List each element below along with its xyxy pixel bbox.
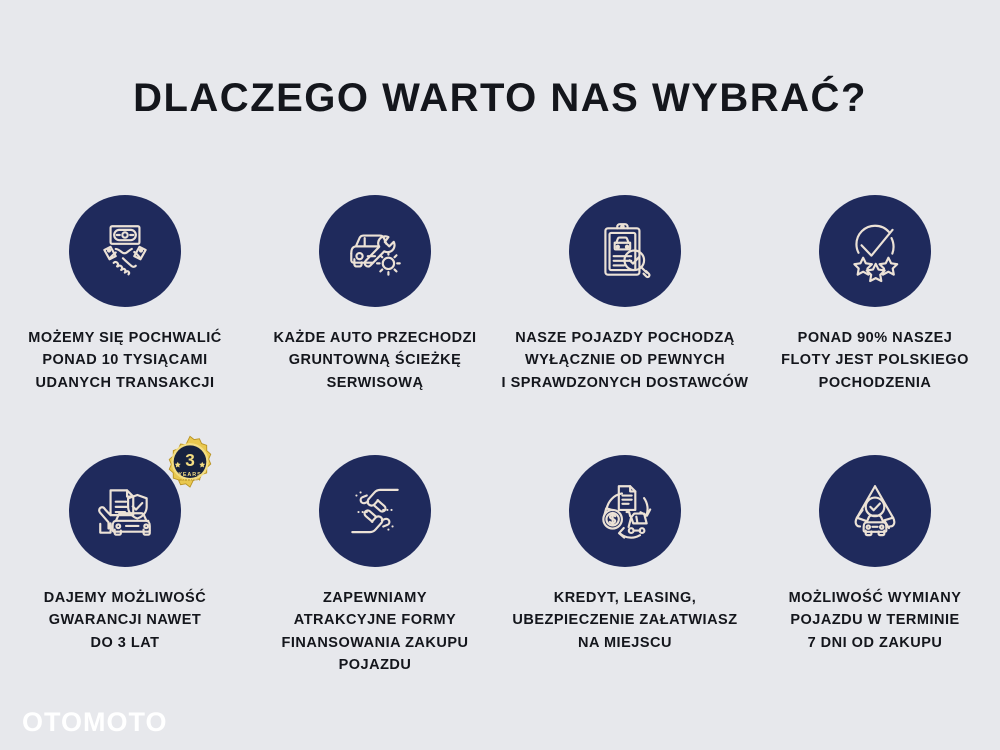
feature-caption-5: DAJEMY MOŻLIWOŚĆ GWARANCJI NAWET DO 3 LA… bbox=[0, 587, 250, 654]
car-exchange-recycle-icon bbox=[819, 455, 931, 567]
feature-card-7: KREDYT, LEASING, UBEZPIECZENIE ZAŁATWIAS… bbox=[500, 455, 750, 677]
feature-caption-3: NASZE POJAZDY POCHODZĄ WYŁĄCZNIE OD PEWN… bbox=[489, 327, 761, 394]
three-years-warranty-badge: 3 YEARS WARRANTY bbox=[161, 435, 219, 493]
svg-text:3: 3 bbox=[185, 450, 195, 470]
feature-card-4: PONAD 90% NASZEJ FLOTY JEST POLSKIEGO PO… bbox=[750, 195, 1000, 394]
feature-card-3: NASZE POJAZDY POCHODZĄ WYŁĄCZNIE OD PEWN… bbox=[500, 195, 750, 394]
icon-wrap-5: 3 YEARS WARRANTY bbox=[69, 455, 181, 567]
svg-text:WARRANTY: WARRANTY bbox=[179, 478, 201, 482]
icon-wrap-2 bbox=[319, 195, 431, 307]
icon-wrap-7 bbox=[569, 455, 681, 567]
car-wrench-gear-icon bbox=[319, 195, 431, 307]
icon-wrap-3 bbox=[569, 195, 681, 307]
features-row-1: MOŻEMY SIĘ POCHWALIĆ PONAD 10 TYSIĄCAMI … bbox=[0, 195, 1000, 394]
feature-card-5: 3 YEARS WARRANTY DAJEMY MOŻLIWOŚĆ GWARAN… bbox=[0, 455, 250, 677]
finance-cycle-icon bbox=[569, 455, 681, 567]
check-stars-icon bbox=[819, 195, 931, 307]
features-row-2: 3 YEARS WARRANTY DAJEMY MOŻLIWOŚĆ GWARAN… bbox=[0, 455, 1000, 677]
feature-caption-6: ZAPEWNIAMY ATRAKCYJNE FORMY FINANSOWANIA… bbox=[250, 587, 500, 677]
feature-card-1: MOŻEMY SIĘ POCHWALIĆ PONAD 10 TYSIĄCAMI … bbox=[0, 195, 250, 394]
icon-wrap-6 bbox=[319, 455, 431, 567]
icon-wrap-8 bbox=[819, 455, 931, 567]
feature-card-6: ZAPEWNIAMY ATRAKCYJNE FORMY FINANSOWANIA… bbox=[250, 455, 500, 677]
otomoto-logo: OTOMOTO bbox=[22, 707, 168, 738]
icon-wrap-4 bbox=[819, 195, 931, 307]
page-title: DLACZEGO WARTO NAS WYBRAĆ? bbox=[0, 76, 1000, 121]
feature-caption-7: KREDYT, LEASING, UBEZPIECZENIE ZAŁATWIAS… bbox=[489, 587, 761, 654]
feature-caption-2: KAŻDE AUTO PRZECHODZI GRUNTOWNĄ ŚCIEŻKĘ … bbox=[250, 327, 500, 394]
feature-caption-1: MOŻEMY SIĘ POCHWALIĆ PONAD 10 TYSIĄCAMI … bbox=[0, 327, 250, 394]
feature-card-8: MOŻLIWOŚĆ WYMIANY POJAZDU W TERMINIE 7 D… bbox=[750, 455, 1000, 677]
handshake-money-icon bbox=[69, 195, 181, 307]
svg-text:YEARS: YEARS bbox=[178, 472, 201, 478]
hands-money-exchange-icon bbox=[319, 455, 431, 567]
clipboard-car-magnifier-icon bbox=[569, 195, 681, 307]
icon-wrap-1 bbox=[69, 195, 181, 307]
feature-card-2: KAŻDE AUTO PRZECHODZI GRUNTOWNĄ ŚCIEŻKĘ … bbox=[250, 195, 500, 394]
feature-caption-4: PONAD 90% NASZEJ FLOTY JEST POLSKIEGO PO… bbox=[750, 327, 1000, 394]
feature-caption-8: MOŻLIWOŚĆ WYMIANY POJAZDU W TERMINIE 7 D… bbox=[750, 587, 1000, 654]
